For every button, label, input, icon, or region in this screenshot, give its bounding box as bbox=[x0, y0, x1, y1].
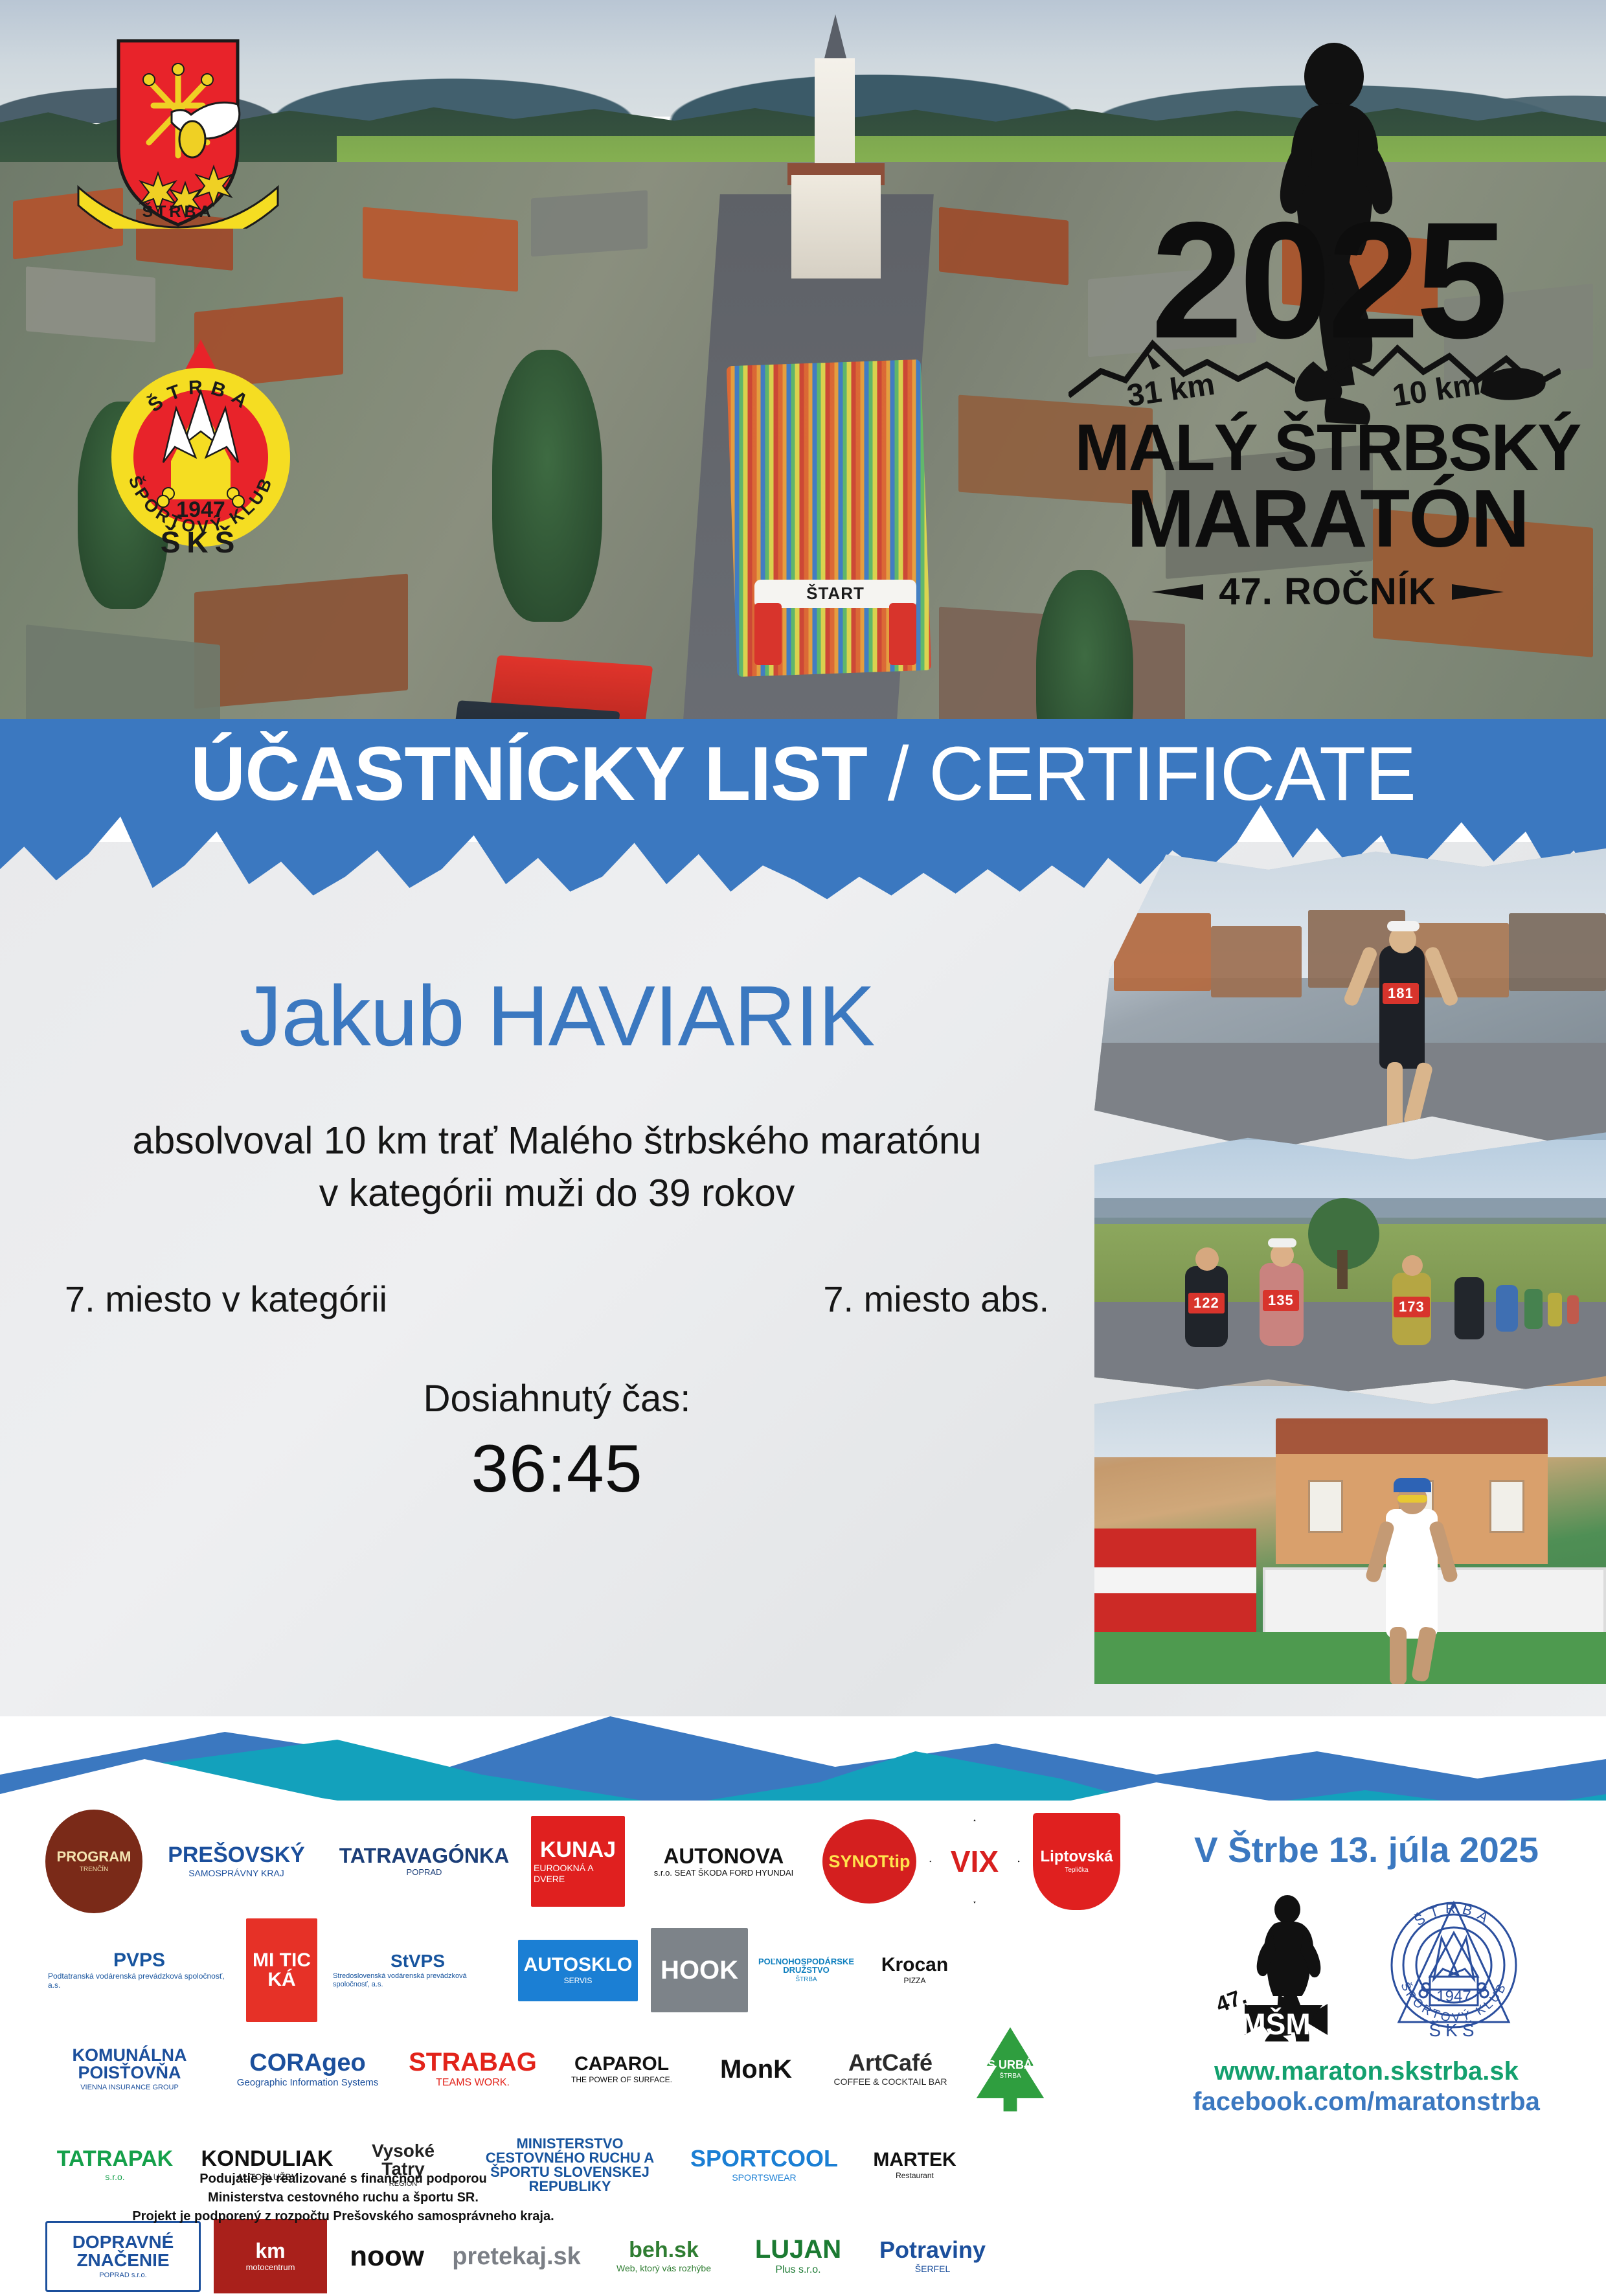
sponsor-logo-subtitle: SERVIS bbox=[564, 1977, 593, 1986]
sponsor-logo: AUTONOVAs.r.o. SEAT ŠKODA FORD HYUNDAI bbox=[638, 1816, 809, 1907]
support-note-line-2: Ministerstva cestovného ruchu a športu S… bbox=[78, 2188, 609, 2207]
arrow-right-icon bbox=[1452, 583, 1510, 601]
sponsor-logo-mark: AUTOSKLOSERVIS bbox=[518, 1940, 638, 2001]
banner-title-bold: ÚČASTNÍCKY LIST bbox=[190, 731, 888, 817]
sponsor-logo: PROGRAMTRENČÍN bbox=[45, 1810, 142, 1913]
sponsor-logo-subtitle: Plus s.r.o. bbox=[775, 2264, 820, 2276]
sponsor-logo: PVPSPodtatranská vodárenská prevádzková … bbox=[45, 1931, 233, 2009]
sponsor-logo-mark: LiptovskáTeplička bbox=[1033, 1813, 1120, 1910]
sponsor-logo-subtitle: SPORTSWEAR bbox=[732, 2172, 796, 2183]
sponsor-logo: SYNOTtip bbox=[822, 1819, 916, 1904]
photo-finish-line-male-runner bbox=[1094, 1373, 1606, 1684]
sponsor-logo-name: MI TIC KÁ bbox=[249, 1951, 315, 1990]
sponsor-logo-subtitle: VIENNA INSURANCE GROUP bbox=[80, 2084, 179, 2092]
sponsor-logo-mark: ArtCaféCOFFEE & COCKTAIL BAR bbox=[826, 2032, 955, 2107]
sponsor-logo-subtitle: ŠTRBA bbox=[999, 2073, 1021, 2080]
sponsor-logo: KOMUNÁLNA POISŤOVŇAVIENNA INSURANCE GROU… bbox=[45, 2029, 214, 2110]
photo-hill-runners: 122 135 173 bbox=[1094, 1127, 1606, 1399]
sponsor-logo-name: MonK bbox=[720, 2056, 792, 2082]
sponsor-logo-subtitle: Geographic Information Systems bbox=[237, 2077, 378, 2088]
sponsor-logo-mark: STRABAGTEAMS WORK. bbox=[401, 2037, 544, 2102]
sponsor-logo-name: noow bbox=[350, 2242, 424, 2271]
photo-finish-female-runner: 181 bbox=[1094, 848, 1606, 1153]
sponsor-logo-mark: PROGRAMTRENČÍN bbox=[45, 1810, 142, 1913]
sponsor-logo-name: KUNAJ bbox=[540, 1839, 616, 1861]
sponsor-logo-subtitle: motocentrum bbox=[246, 2263, 295, 2273]
start-arch-leg-right bbox=[889, 603, 916, 665]
sponsor-logo: MARTEKRestaurant bbox=[858, 2122, 971, 2209]
sponsor-logo-mark: VIX bbox=[929, 1819, 1020, 1904]
sponsor-logo: PotravinyŠERFEL bbox=[868, 2221, 997, 2292]
sponsor-logo-subtitle: POPRAD s.r.o. bbox=[99, 2271, 146, 2280]
sponsor-section: PROGRAMTRENČÍNPREŠOVSKÝSAMOSPRÁVNY KRAJT… bbox=[0, 1801, 1606, 2272]
sponsor-logo: PREŠOVSKÝSAMOSPRÁVNY KRAJ bbox=[155, 1823, 317, 1900]
sponsor-logo-name: km bbox=[255, 2240, 285, 2261]
marathon-title-line2: MARATÓN bbox=[1062, 478, 1593, 560]
sponsor-logo-mark: kmmotocentrum bbox=[214, 2219, 327, 2293]
sponsor-logo-mark: TATRAVAGÓNKAPOPRAD bbox=[330, 1823, 518, 1900]
sks-year-text: 1947 bbox=[1436, 1988, 1471, 2005]
marathon-title-block: 2025 31 km 10 km MALÝ ŠTRBSKÝ MARATÓN 47… bbox=[1062, 39, 1593, 583]
church-nave bbox=[791, 175, 881, 278]
marathon-title-line1: MALÝ ŠTRBSKÝ bbox=[1062, 415, 1593, 481]
place-in-category: 7. miesto v kategórii bbox=[65, 1278, 387, 1320]
support-note-line-3: Projekt je podporený z rozpočtu Prešovsk… bbox=[78, 2207, 609, 2226]
sponsor-logo-name: Krocan bbox=[881, 1955, 948, 1975]
sponsor-logo: SPORTCOOLSPORTSWEAR bbox=[683, 2131, 845, 2199]
sponsor-logo-name: AUTONOVA bbox=[664, 1845, 784, 1867]
sks-bottom-text: ŠKŠ bbox=[1429, 2020, 1478, 2040]
sponsor-logo-mark: POĽNOHOSPODÁRSKE DRUŽSTVOŠTRBA bbox=[761, 1925, 852, 2016]
sponsor-logo-mark: CAPAROLTHE POWER OF SURFACE. bbox=[557, 2034, 686, 2105]
sponsor-logo-name: PREŠOVSKÝ bbox=[168, 1844, 305, 1866]
sponsor-logo-mark: MonK bbox=[699, 2037, 813, 2102]
sponsor-logo-name: ArtCafé bbox=[848, 2051, 933, 2074]
crest-ribbon: ŠTRBA bbox=[76, 182, 280, 229]
sponsor-logo-name: PVPS bbox=[113, 1951, 165, 1970]
sponsor-logo: POĽNOHOSPODÁRSKE DRUŽSTVOŠTRBA bbox=[761, 1925, 852, 2016]
sponsor-logo-mark: PotravinyŠERFEL bbox=[868, 2221, 997, 2292]
sponsor-logo: ArtCaféCOFFEE & COCKTAIL BAR bbox=[826, 2032, 955, 2107]
sponsor-logo-mark: PREŠOVSKÝSAMOSPRÁVNY KRAJ bbox=[155, 1823, 317, 1900]
sponsor-logo: LiptovskáTeplička bbox=[1033, 1813, 1120, 1910]
sponsor-logo-name: CORAgeo bbox=[249, 2051, 365, 2075]
sponsor-logo-name: StVPS bbox=[390, 1952, 445, 1970]
sponsor-logo-mark: AUTONOVAs.r.o. SEAT ŠKODA FORD HYUNDAI bbox=[638, 1816, 809, 1907]
sponsor-logo-subtitle: s.r.o. SEAT ŠKODA FORD HYUNDAI bbox=[654, 1869, 794, 1878]
description-line-2: v kategórii muži do 39 rokov bbox=[39, 1167, 1075, 1220]
rooftop bbox=[194, 574, 408, 709]
start-arch: ŠTART bbox=[754, 580, 916, 664]
sponsor-logo-mark: CORAgeoGeographic Information Systems bbox=[227, 2037, 389, 2102]
sponsor-logo-subtitle: SAMOSPRÁVNY KRAJ bbox=[188, 1868, 284, 1878]
footer-right-column: V Štrbe 13. júla 2025 bbox=[1140, 1813, 1593, 2117]
sponsor-logo-mark: KUNAJEUROOKNÁ A DVERE bbox=[531, 1816, 625, 1907]
sponsor-logo-name: PS URBÁR bbox=[980, 2059, 1041, 2071]
sponsor-logo: DOPRAVNÉ ZNAČENIEPOPRAD s.r.o. bbox=[45, 2221, 201, 2292]
certificate-banner-title: ÚČASTNÍCKY LIST / CERTIFICATE bbox=[0, 736, 1606, 812]
sponsor-logo-mark: beh.skWeb, ktorý vás rozhýbe bbox=[599, 2225, 729, 2287]
sponsor-logo-name: DOPRAVNÉ ZNAČENIE bbox=[50, 2233, 196, 2269]
sponsor-logo-subtitle: TEAMS WORK. bbox=[436, 2077, 510, 2089]
sponsor-logo-name: SYNOTtip bbox=[829, 1853, 910, 1870]
sponsor-logo-mark: PVPSPodtatranská vodárenská prevádzková … bbox=[45, 1931, 233, 2009]
msm-emblem: 47. MŠM bbox=[1211, 1892, 1340, 2041]
certificate-content: Jakub HAVIARIK absolvoval 10 km trať Mal… bbox=[39, 972, 1075, 1508]
sponsor-logo-name: POĽNOHOSPODÁRSKE DRUŽSTVO bbox=[758, 1957, 854, 1974]
sponsor-logo-name: Liptovská bbox=[1040, 1849, 1113, 1865]
sponsor-logo: PS URBÁRŠTRBA bbox=[968, 2027, 1052, 2111]
sponsor-logo-mark: MI TIC KÁ bbox=[246, 1918, 317, 2022]
sponsor-logo-name: KONDULIAK bbox=[201, 2148, 334, 2170]
sponsor-logo-name: VIX bbox=[951, 1847, 999, 1876]
sponsor-logo: STRABAGTEAMS WORK. bbox=[401, 2037, 544, 2102]
sponsor-logo-name: HOOK bbox=[661, 1957, 738, 1983]
athlete-name: Jakub HAVIARIK bbox=[39, 972, 1075, 1062]
sponsor-logo-subtitle: PIZZA bbox=[903, 1977, 925, 1986]
sponsor-logo-mark: SPORTCOOLSPORTSWEAR bbox=[683, 2131, 845, 2199]
rooftop bbox=[939, 207, 1069, 285]
sponsor-logo-name: PROGRAM bbox=[57, 1850, 131, 1864]
sponsor-logo-subtitle: TRENČÍN bbox=[80, 1866, 108, 1874]
sponsor-logo-subtitle: EUROOKNÁ A DVERE bbox=[534, 1863, 622, 1883]
sponsor-logo-name: MARTEK bbox=[873, 2150, 956, 2170]
funding-support-note: Podujatie je realizované s finančnou pod… bbox=[78, 2170, 609, 2226]
sponsor-logo: KrocanPIZZA bbox=[865, 1925, 965, 2016]
conifer-tree bbox=[492, 350, 602, 622]
start-arch-leg-left bbox=[754, 603, 782, 665]
sponsor-logo-mark: DOPRAVNÉ ZNAČENIEPOPRAD s.r.o. bbox=[45, 2221, 201, 2292]
sponsor-logo: kmmotocentrum bbox=[214, 2219, 327, 2293]
support-note-line-1: Podujatie je realizované s finančnou pod… bbox=[78, 2170, 609, 2188]
sks-top-text: ŠTRBA bbox=[1411, 1900, 1496, 1929]
sponsor-logo-mark: LUJANPlus s.r.o. bbox=[741, 2221, 855, 2292]
sponsor-logo: KUNAJEUROOKNÁ A DVERE bbox=[531, 1816, 625, 1907]
sponsor-logo-mark: noow bbox=[340, 2224, 434, 2289]
sponsor-logo-name: TATRAVAGÓNKA bbox=[339, 1845, 509, 1866]
sponsor-logo: VIX bbox=[929, 1819, 1020, 1904]
event-date: V Štrbe 13. júla 2025 bbox=[1140, 1829, 1593, 1870]
arrow-left-icon bbox=[1145, 583, 1203, 601]
sponsor-logo-subtitle: Restaurant bbox=[896, 2172, 934, 2181]
sponsor-logo: CORAgeoGeographic Information Systems bbox=[227, 2037, 389, 2102]
sponsor-logo-name: LUJAN bbox=[755, 2236, 841, 2262]
sponsor-logo: LUJANPlus s.r.o. bbox=[741, 2221, 855, 2292]
runner-bib-number: 173 bbox=[1394, 1297, 1430, 1317]
runner-bib-number: 122 bbox=[1188, 1293, 1225, 1313]
sponsor-logo-mark: PS URBÁRŠTRBA bbox=[968, 2027, 1052, 2111]
runner-bib-number: 181 bbox=[1383, 983, 1419, 1004]
sponsor-logo-subtitle: POPRAD bbox=[407, 1868, 442, 1878]
club-abbrev: ŠKŠ bbox=[104, 525, 298, 560]
finish-time: 36:45 bbox=[39, 1431, 1075, 1508]
sponsor-logo-name: CAPAROL bbox=[574, 2054, 669, 2074]
sponsor-logo-mark: KrocanPIZZA bbox=[865, 1925, 965, 2016]
marathon-edition: 47. ROČNÍK bbox=[1062, 570, 1593, 613]
sponsor-logo-subtitle: Podtatranská vodárenská prevádzková spol… bbox=[48, 1972, 231, 1990]
sponsor-logo-subtitle: ŠERFEL bbox=[915, 2264, 950, 2274]
sponsor-logo: HOOK bbox=[651, 1928, 748, 2012]
strba-coat-of-arms: ŠTRBA bbox=[113, 36, 243, 230]
sponsor-logo-name: AUTOSKLO bbox=[524, 1955, 633, 1975]
sponsor-logo-subtitle: ŠTRBA bbox=[795, 1976, 817, 1984]
sponsor-logo-name: SPORTCOOL bbox=[690, 2147, 838, 2170]
sponsor-logo-mark: MARTEKRestaurant bbox=[858, 2122, 971, 2209]
sponsor-logo-mark: KOMUNÁLNA POISŤOVŇAVIENNA INSURANCE GROU… bbox=[45, 2029, 214, 2110]
sponsor-logo-subtitle: THE POWER OF SURFACE. bbox=[571, 2076, 672, 2085]
sponsor-logo-subtitle: Teplička bbox=[1065, 1867, 1088, 1874]
facebook-url[interactable]: facebook.com/maratonstrba bbox=[1140, 2087, 1593, 2117]
sponsor-logo-subtitle: Stredoslovenská vodárenská prevádzková s… bbox=[333, 1972, 503, 1988]
time-label: Dosiahnutý čas: bbox=[39, 1377, 1075, 1420]
sponsor-logo-name: KOMUNÁLNA POISŤOVŇA bbox=[48, 2047, 211, 2082]
sponsor-logo: StVPSStredoslovenská vodárenská prevádzk… bbox=[330, 1930, 505, 2011]
sponsor-logo-mark: StVPSStredoslovenská vodárenská prevádzk… bbox=[330, 1930, 505, 2011]
hero-photo: ŠTART bbox=[0, 0, 1606, 784]
sks-club-logo: 1947 ŠTRBA ŠPORTOVÝ KLUB ŠKŠ bbox=[104, 324, 298, 570]
crest-caption: ŠTRBA bbox=[76, 203, 280, 222]
msm-abbrev: MŠM bbox=[1211, 2006, 1340, 2041]
footer-emblems: 47. MŠM bbox=[1140, 1892, 1593, 2041]
church bbox=[797, 19, 874, 272]
sponsor-logo-mark: SYNOTtip bbox=[822, 1819, 916, 1904]
sponsor-logo: TATRAVAGÓNKAPOPRAD bbox=[330, 1823, 518, 1900]
placement-row: 7. miesto v kategórii 7. miesto abs. bbox=[39, 1278, 1075, 1320]
sponsor-logo: noow bbox=[340, 2224, 434, 2289]
sponsor-logo-name: beh.sk bbox=[629, 2239, 699, 2261]
photo-collage: 181 122 135 173 bbox=[1094, 848, 1606, 1684]
sponsor-logo: CAPAROLTHE POWER OF SURFACE. bbox=[557, 2034, 686, 2105]
website-url[interactable]: www.maraton.skstrba.sk bbox=[1140, 2057, 1593, 2086]
runner-bib-number: 135 bbox=[1263, 1290, 1299, 1311]
rooftop bbox=[531, 190, 648, 257]
description-line-1: absolvoval 10 km trať Malého štrbského m… bbox=[39, 1115, 1075, 1167]
rooftop bbox=[363, 207, 518, 292]
sponsor-logo: MI TIC KÁ bbox=[246, 1918, 317, 2022]
sponsor-logo: beh.skWeb, ktorý vás rozhýbe bbox=[599, 2225, 729, 2287]
banner-title-light: / CERTIFICATE bbox=[888, 731, 1416, 817]
sponsor-logo: pretekaj.sk bbox=[447, 2225, 586, 2287]
start-arch-label: ŠTART bbox=[754, 584, 916, 604]
sponsor-logo-mark: HOOK bbox=[651, 1928, 748, 2012]
sponsor-logo-subtitle: COFFEE & COCKTAIL BAR bbox=[833, 2076, 947, 2087]
sponsor-logo-mark: pretekaj.sk bbox=[447, 2225, 586, 2287]
sponsor-logo: MonK bbox=[699, 2037, 813, 2102]
sponsor-logo-name: TATRAPAK bbox=[57, 2148, 173, 2170]
place-absolute: 7. miesto abs. bbox=[823, 1278, 1049, 1320]
edition-label: 47. ROČNÍK bbox=[1219, 570, 1436, 613]
sponsor-logo: AUTOSKLOSERVIS bbox=[518, 1940, 638, 2001]
sks-footer-emblem: 1947 ŠTRBA ŠPORTOVÝ KLUB ŠKŠ bbox=[1386, 1892, 1522, 2041]
sponsor-logo-name: pretekaj.sk bbox=[452, 2244, 581, 2269]
sponsor-logo-name: Potraviny bbox=[879, 2238, 986, 2262]
sponsor-logo-name: STRABAG bbox=[409, 2049, 537, 2075]
